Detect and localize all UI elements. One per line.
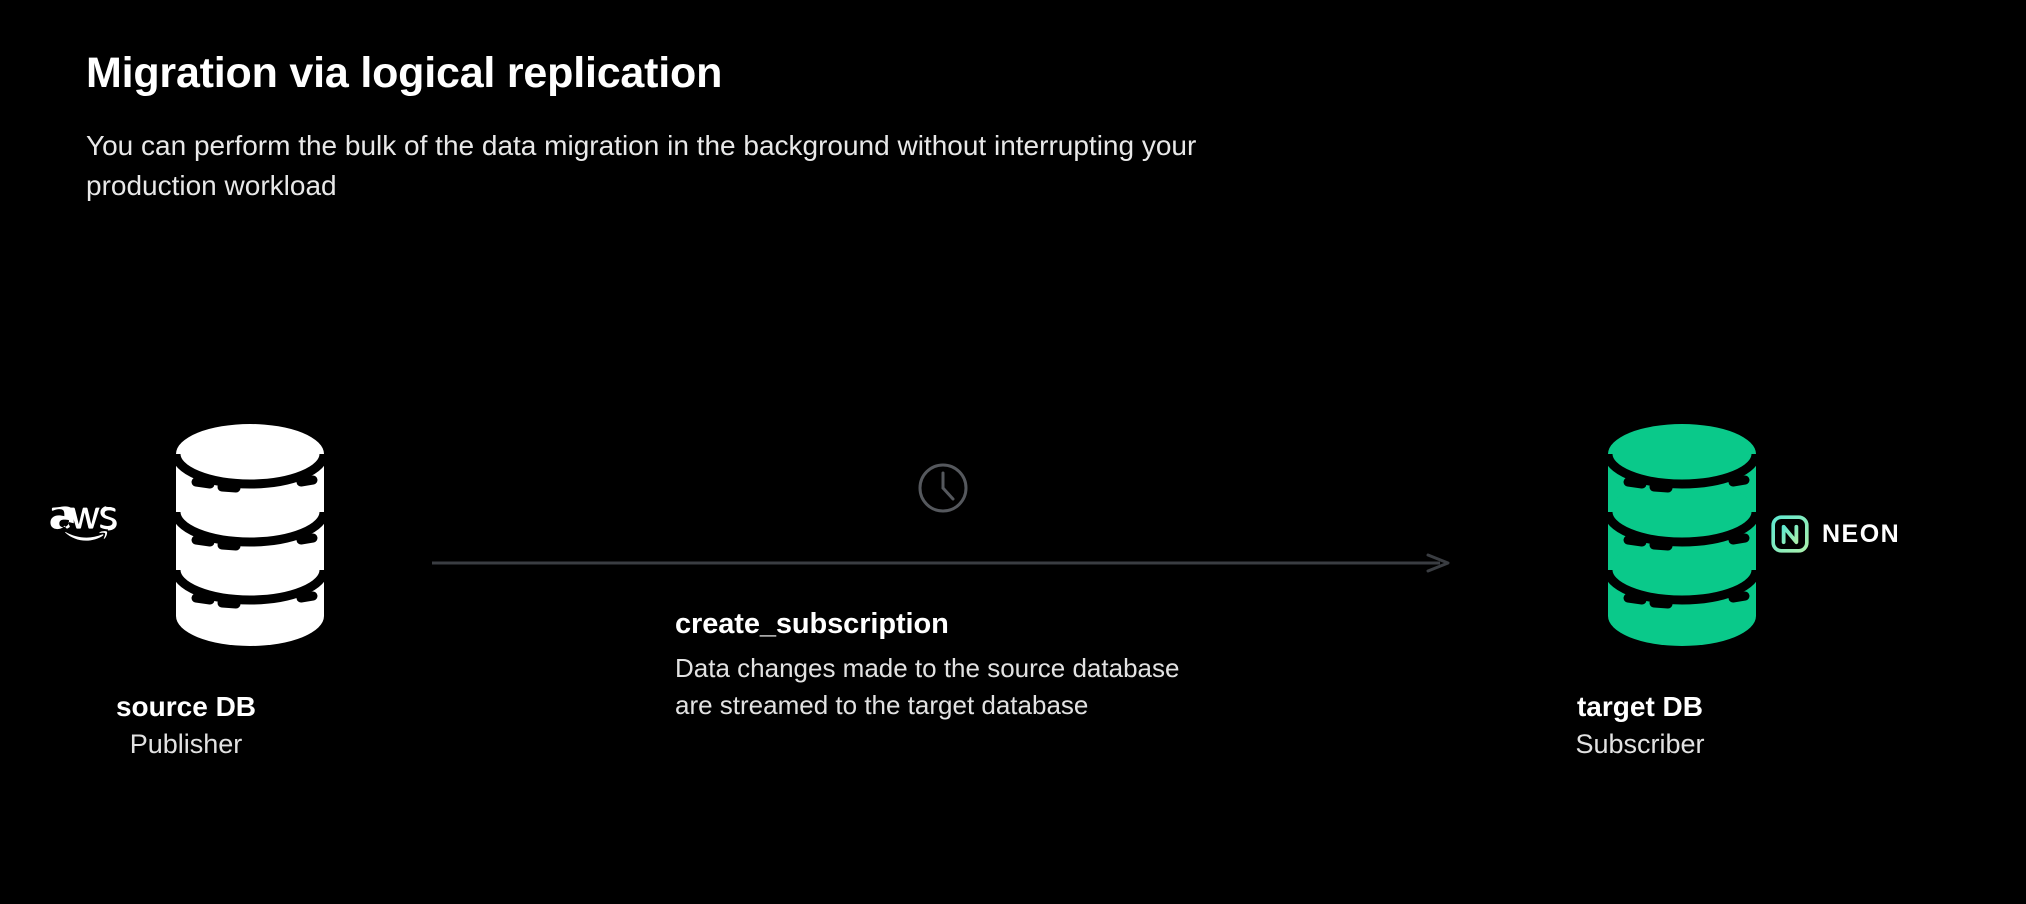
- neon-wordmark: NEON: [1822, 520, 1900, 549]
- flow-description-line-2: are streamed to the target database: [675, 687, 1435, 724]
- source-db-label: source DB: [40, 688, 332, 726]
- neon-brand: NEON: [1770, 512, 1930, 556]
- source-db-role: Publisher: [40, 726, 332, 762]
- source-node-labels: source DB Publisher: [40, 688, 460, 762]
- aws-logo-icon: [40, 498, 160, 570]
- source-node-graphics: [40, 420, 460, 670]
- flow-title: create_subscription: [675, 605, 1435, 644]
- target-db-role: Subscriber: [1520, 726, 1760, 762]
- clock-icon: [915, 460, 971, 516]
- source-database-icon: [170, 420, 330, 670]
- replication-diagram: source DB Publisher: [0, 0, 2026, 904]
- target-node-graphics: NEON: [1520, 420, 1940, 670]
- neon-logo-icon: [1770, 514, 1810, 554]
- replication-flow: [432, 460, 1454, 580]
- target-node-labels: target DB Subscriber: [1520, 688, 1940, 762]
- target-database-icon: [1602, 420, 1762, 670]
- source-node: source DB Publisher: [40, 420, 460, 762]
- slide-canvas: Migration via logical replication You ca…: [0, 0, 2026, 904]
- flow-description-line-1: Data changes made to the source database: [675, 650, 1435, 687]
- flow-description-block: create_subscription Data changes made to…: [675, 605, 1435, 724]
- target-node: NEON target DB Subscriber: [1520, 420, 1940, 762]
- target-db-label: target DB: [1520, 688, 1760, 726]
- arrow-right-icon: [432, 553, 1454, 573]
